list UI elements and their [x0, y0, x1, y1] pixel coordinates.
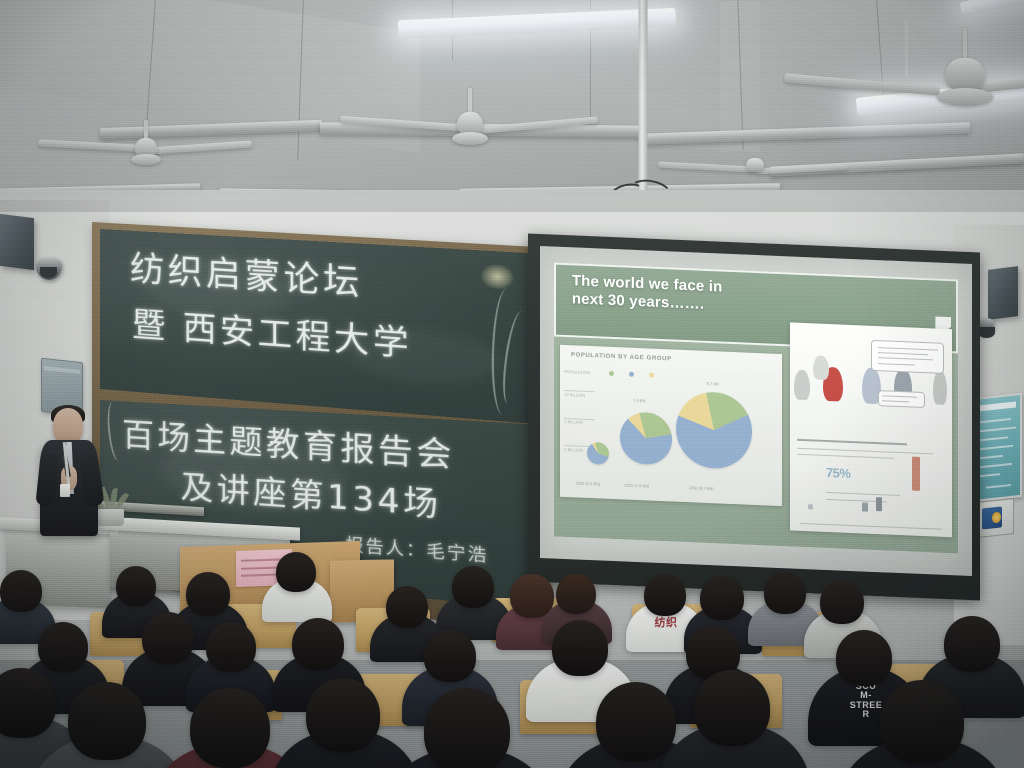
audience-member	[306, 678, 380, 752]
audience-member	[944, 616, 1000, 672]
ceiling-fan	[400, 88, 540, 168]
chart-tick-1bn: 1 BILLION	[564, 447, 583, 453]
audience-member	[694, 670, 770, 746]
audience-member	[552, 620, 608, 676]
cartoon-illustration	[790, 335, 952, 433]
audience-member	[596, 682, 676, 762]
audience-member	[190, 688, 270, 768]
cartoon-figure-grey	[794, 370, 810, 401]
chart-y-axis-label: POPULATION	[564, 369, 590, 375]
cartoon-figure-hat	[813, 356, 829, 381]
pie-1950	[587, 442, 609, 465]
audience-member: 纺织	[644, 574, 686, 616]
audience-member	[452, 566, 494, 608]
head	[276, 552, 316, 592]
audience-member	[292, 618, 344, 670]
head	[452, 566, 494, 608]
head	[820, 580, 864, 624]
audience-member	[186, 572, 230, 616]
pie-2050	[676, 390, 752, 469]
audience-member	[820, 580, 864, 624]
audience-member	[556, 574, 596, 614]
head	[142, 612, 194, 664]
head	[424, 688, 510, 768]
pie-2015	[620, 411, 672, 465]
blackboard-title-line2: 暨 西安工程大学	[132, 297, 412, 366]
slide-title: The world we face in next 30 years…….	[572, 272, 723, 315]
audience-member	[206, 622, 256, 672]
head	[596, 682, 676, 762]
head	[0, 570, 42, 612]
audience-member	[424, 688, 510, 768]
lecture-hall-photo: 纺织启蒙论坛 暨 西安工程大学 百场主题教育报告会 及讲座第134场 报告人：毛…	[0, 0, 1024, 768]
audience-member	[700, 576, 744, 620]
head	[836, 630, 892, 686]
audience-member	[142, 612, 194, 664]
audience-member	[0, 668, 56, 738]
head	[0, 668, 56, 738]
audience-member	[0, 570, 42, 612]
legend-swatch-15-64	[629, 372, 634, 377]
head	[190, 688, 270, 768]
audience-member	[116, 566, 156, 606]
wall-speaker-left	[0, 214, 34, 270]
head	[552, 620, 608, 676]
head	[386, 586, 428, 628]
pie-total-2015: 7.3 BN	[633, 398, 645, 404]
pie-total-2050: 9.7 BN	[707, 381, 719, 387]
head	[694, 670, 770, 746]
head	[880, 680, 964, 764]
head	[424, 630, 476, 682]
head	[306, 678, 380, 752]
audience-member	[386, 586, 428, 628]
speech-bubble	[871, 340, 944, 374]
head	[292, 618, 344, 670]
info-headline-rule	[797, 439, 907, 446]
audience-member-logo-jacket: SCU M- STREE R	[836, 630, 892, 686]
chart-tick-5bn: 5 BILLION	[564, 419, 583, 425]
head	[186, 572, 230, 616]
ceiling-fan	[86, 120, 206, 190]
chart-tick-10bn: 10 BILLION	[564, 392, 585, 398]
legend-swatch-0-14	[609, 371, 614, 376]
chart-title: POPULATION BY AGE GROUP	[571, 353, 672, 363]
audience-member	[764, 572, 806, 614]
head	[556, 574, 596, 614]
wall-speaker-right	[988, 266, 1018, 320]
head	[764, 572, 806, 614]
head	[944, 616, 1000, 672]
legend-swatch-65plus	[649, 373, 654, 378]
audience-member	[880, 680, 964, 764]
head	[206, 622, 256, 672]
audience-member	[276, 552, 316, 592]
head	[116, 566, 156, 606]
cartoon-figure-right	[933, 370, 947, 405]
head	[38, 622, 88, 672]
audience-member	[68, 682, 146, 760]
head	[68, 682, 146, 760]
caption-bubble	[878, 390, 925, 409]
audience-area: 纺织	[0, 478, 1024, 768]
audience-member	[424, 630, 476, 682]
light-hanger	[465, 0, 468, 16]
ceiling-fan	[880, 28, 1024, 128]
audience-member	[38, 622, 88, 672]
chalk-flower-decoration	[481, 263, 515, 290]
head	[700, 576, 744, 620]
head	[644, 574, 686, 616]
presenter-head	[53, 408, 83, 444]
